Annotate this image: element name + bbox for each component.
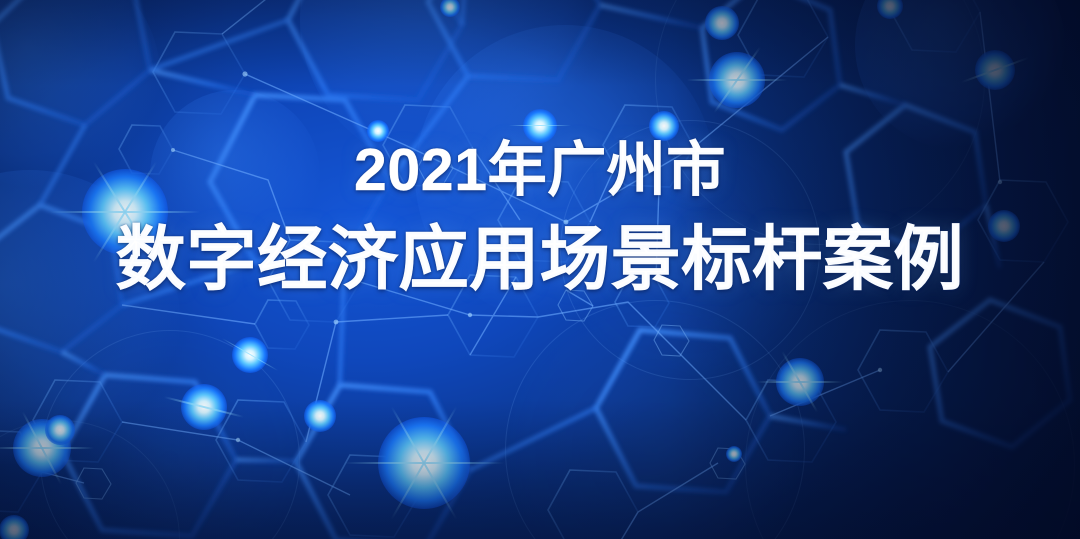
- bokeh-circle: [0, 0, 160, 190]
- bokeh-circle: [300, 0, 600, 170]
- bokeh-circle: [655, 0, 985, 245]
- bokeh-circle: [150, 90, 320, 260]
- bokeh-circle: [745, 300, 1075, 539]
- vignette-overlay: [0, 0, 1080, 539]
- bokeh-circle: [0, 420, 180, 539]
- bokeh-circle: [415, 25, 715, 325]
- bokeh-circle: [560, 120, 820, 380]
- poster-banner: 2021年广州市 数字经济应用场景标杆案例: [0, 0, 1080, 539]
- title-line-1: 2021年广州市: [0, 140, 1080, 201]
- title-line-2: 数字经济应用场景标杆案例: [0, 223, 1080, 296]
- molecular-network-graphic: [0, 0, 1080, 539]
- bokeh-circle: [505, 300, 805, 539]
- bokeh-circle: [40, 330, 300, 539]
- bokeh-circle: [0, 170, 180, 470]
- bokeh-circle: [855, 0, 1065, 150]
- poster-title: 2021年广州市 数字经济应用场景标杆案例: [0, 140, 1080, 296]
